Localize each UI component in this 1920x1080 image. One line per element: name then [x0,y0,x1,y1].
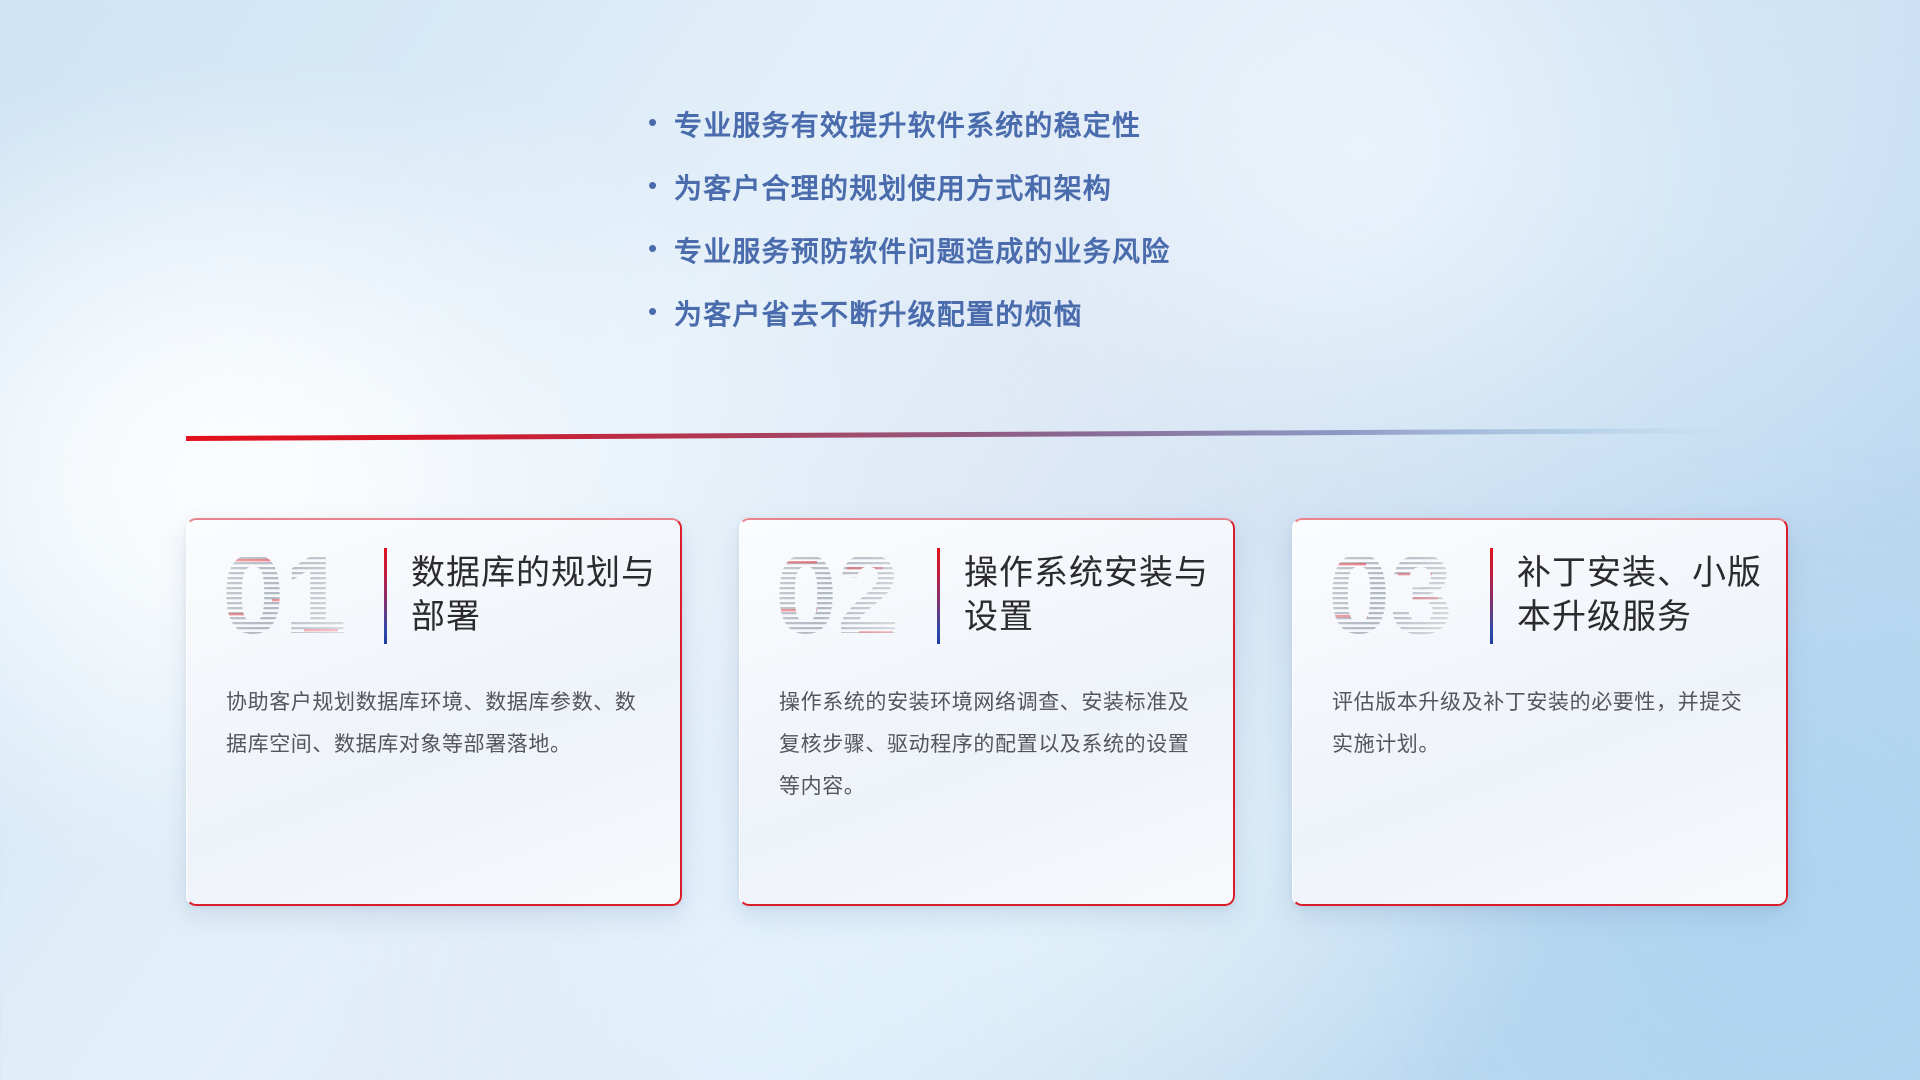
service-card[interactable]: 02 操作系统安装与设置 [739,518,1235,906]
bullet-item: • 为客户合理的规划使用方式和架构 [648,171,1408,206]
card-number-graphic: 01 [220,537,370,655]
service-card[interactable]: 03 补丁安装、小版本升级服务 [1292,518,1788,906]
bullet-marker-icon: • [648,109,674,135]
card-description: 评估版本升级及补丁安装的必要性，并提交实施计划。 [1292,674,1788,766]
section-divider [186,424,1746,442]
card-number-03-icon: 03 [1326,537,1476,655]
card-header: 01 数据库的规划与部署 [186,518,682,674]
card-accent-bar [1490,548,1493,644]
bullet-item: • 专业服务有效提升软件系统的稳定性 [648,108,1408,143]
card-accent-bar [937,548,940,644]
card-number-01-icon: 01 [220,537,370,655]
service-card[interactable]: 01 数据库的规划与部署 [186,518,682,906]
card-number-02-icon: 02 [773,537,923,655]
bullet-text: 为客户省去不断升级配置的烦恼 [674,297,1083,332]
card-title: 补丁安装、小版本升级服务 [1517,552,1788,639]
card-accent-bar [384,548,387,644]
card-header: 03 补丁安装、小版本升级服务 [1292,518,1788,674]
bullet-item: • 专业服务预防软件问题造成的业务风险 [648,234,1408,269]
slide-stage: • 专业服务有效提升软件系统的稳定性 • 为客户合理的规划使用方式和架构 • 专… [0,0,1920,1080]
bullet-text: 为客户合理的规划使用方式和架构 [674,171,1112,206]
card-header: 02 操作系统安装与设置 [739,518,1235,674]
service-card-list: 01 数据库的规划与部署 [186,518,1788,906]
card-title: 操作系统安装与设置 [964,552,1235,639]
card-number-graphic: 02 [773,537,923,655]
bullet-item: • 为客户省去不断升级配置的烦恼 [648,297,1408,332]
card-description: 协助客户规划数据库环境、数据库参数、数据库空间、数据库对象等部署落地。 [186,674,682,766]
bullet-marker-icon: • [648,298,674,324]
divider-shape [186,424,1746,442]
bullet-marker-icon: • [648,235,674,261]
bullet-text: 专业服务有效提升软件系统的稳定性 [674,108,1141,143]
card-title: 数据库的规划与部署 [411,552,682,639]
card-description: 操作系统的安装环境网络调查、安装标准及复核步骤、驱动程序的配置以及系统的设置等内… [739,674,1235,808]
bullet-text: 专业服务预防软件问题造成的业务风险 [674,234,1170,269]
card-number-graphic: 03 [1326,537,1476,655]
bullet-marker-icon: • [648,172,674,198]
benefits-bullet-list: • 专业服务有效提升软件系统的稳定性 • 为客户合理的规划使用方式和架构 • 专… [648,108,1408,360]
